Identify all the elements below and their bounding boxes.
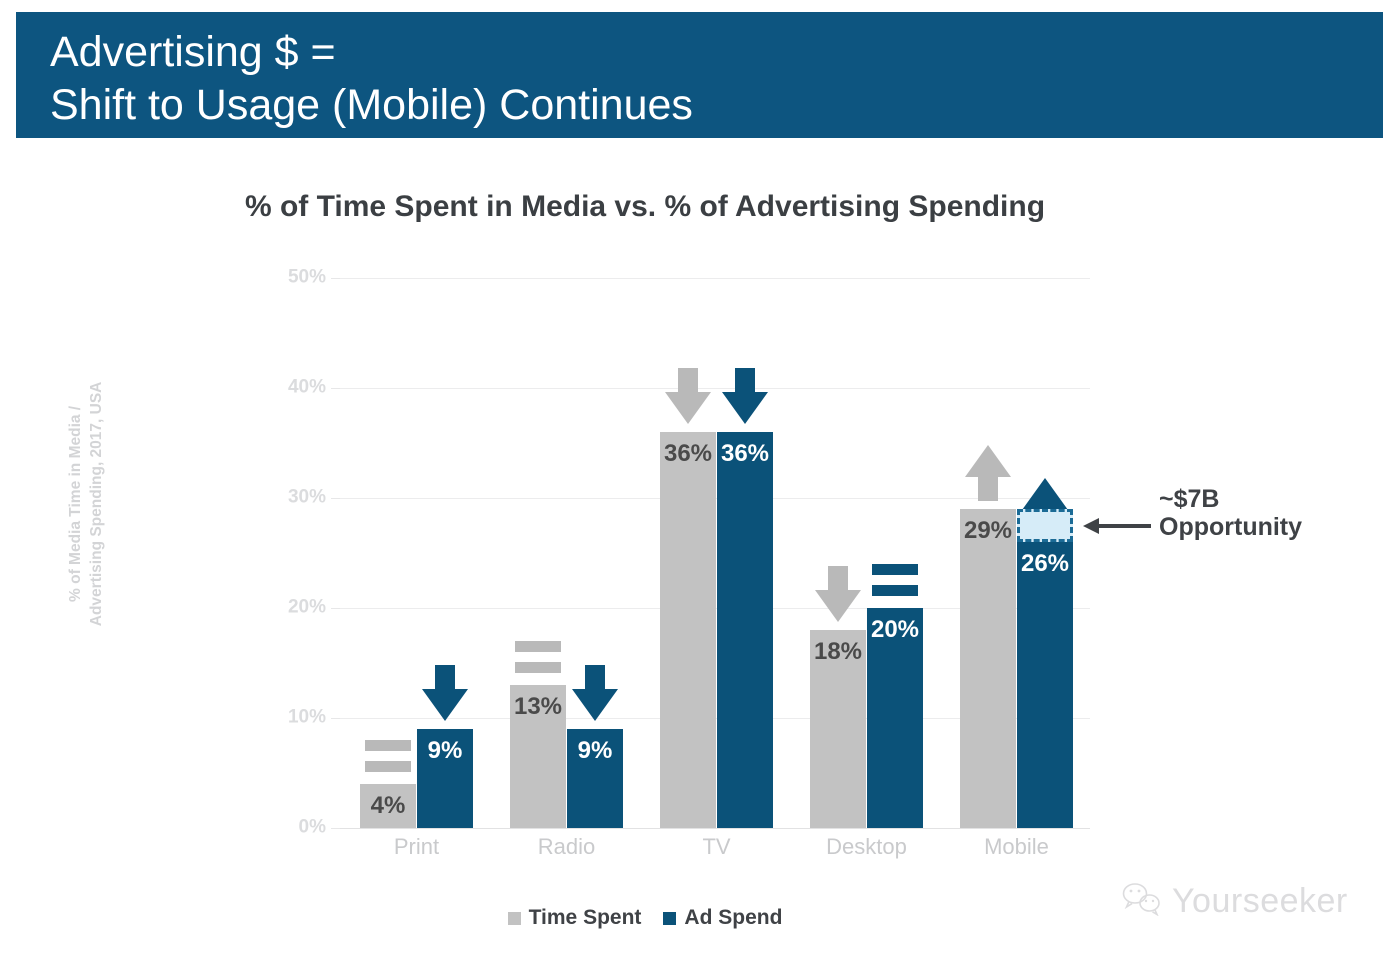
y-tick-mark [331,608,340,609]
arrow-down-icon [572,665,618,721]
bar-mobile-ad-spend[interactable]: 26% [1017,542,1073,828]
trend-indicator-tv-time-spent [665,368,711,424]
y-tick-label: 10% [288,707,326,729]
bar-desktop-ad-spend[interactable]: 20% [867,608,923,828]
bar-group-tv: 36%36%TV [660,278,773,828]
watermark: Yourseeker [1122,882,1348,921]
chart-legend: Time SpentAd Spend [0,906,1290,930]
trend-indicator-print-ad-spend [422,665,468,721]
equals-icon [515,639,561,677]
arrow-down-icon [815,566,861,622]
bar-value-label: 9% [417,737,473,765]
opportunity-amount: ~$7B [1159,485,1302,514]
bar-group-desktop: 18%20%Desktop [810,278,923,828]
bar-group-mobile: 29%26%Mobile [960,278,1073,828]
bar-group-radio: 13%9%Radio [510,278,623,828]
bar-tv-time-spent[interactable]: 36% [660,432,716,828]
arrow-down-icon [722,368,768,424]
legend-swatch [508,912,521,925]
trend-indicator-print-time-spent [365,738,411,776]
bar-mobile-time-spent[interactable]: 29% [960,509,1016,828]
legend-item-ad-spend[interactable]: Ad Spend [663,906,782,930]
wechat-icon [1122,882,1162,921]
y-tick-label: 40% [288,377,326,399]
watermark-text: Yourseeker [1172,882,1348,921]
bar-value-label: 18% [810,638,866,666]
y-tick-label: 20% [288,597,326,619]
bar-group-print: 4%9%Print [360,278,473,828]
y-tick-label: 30% [288,487,326,509]
trend-indicator-tv-ad-spend [722,368,768,424]
arrow-up-icon [965,445,1011,501]
trend-indicator-radio-ad-spend [572,665,618,721]
chart-title: % of Time Spent in Media vs. % of Advert… [0,190,1290,224]
legend-label: Time Spent [529,906,642,930]
arrow-down-icon [422,665,468,721]
arrow-down-icon [665,368,711,424]
bar-value-label: 36% [717,440,773,468]
bar-radio-time-spent[interactable]: 13% [510,685,566,828]
bar-desktop-time-spent[interactable]: 18% [810,630,866,828]
y-tick-label: 50% [288,267,326,289]
header-banner: Advertising $ = Shift to Usage (Mobile) … [16,12,1383,138]
bar-value-label: 26% [1017,550,1073,578]
x-axis-label-print: Print [360,834,473,860]
bar-value-label: 20% [867,616,923,644]
bar-value-label: 29% [960,517,1016,545]
trend-indicator-radio-time-spent [515,639,561,677]
equals-icon [872,562,918,600]
legend-label: Ad Spend [684,906,782,930]
y-tick-mark [331,498,340,499]
bar-value-label: 9% [567,737,623,765]
bar-tv-ad-spend[interactable]: 36% [717,432,773,828]
opportunity-annotation: ~$7BOpportunity [1159,485,1302,543]
y-tick-label: 0% [299,817,326,839]
axis-baseline [340,828,1090,829]
y-tick-mark [331,388,340,389]
bar-print-time-spent[interactable]: 4% [360,784,416,828]
page-title: Advertising $ = Shift to Usage (Mobile) … [50,26,1383,133]
legend-item-time-spent[interactable]: Time Spent [508,906,642,930]
chart-container: % of Time Spent in Media vs. % of Advert… [0,138,1399,960]
y-tick-mark [331,828,340,829]
opportunity-box [1017,509,1073,542]
trend-indicator-desktop-ad-spend [872,562,918,600]
x-axis-label-desktop: Desktop [810,834,923,860]
bar-value-label: 36% [660,440,716,468]
annotation-pointer-icon [1081,515,1153,537]
x-axis-label-tv: TV [660,834,773,860]
plot-area: 0%10%20%30%40%50%4%9%Print13%9%Radio36%3… [340,278,1090,828]
trend-indicator-mobile-time-spent [965,445,1011,501]
opportunity-caption: Opportunity [1159,513,1302,542]
trend-indicator-desktop-time-spent [815,566,861,622]
bar-print-ad-spend[interactable]: 9% [417,729,473,828]
y-tick-mark [331,278,340,279]
equals-icon [365,738,411,776]
y-tick-mark [331,718,340,719]
x-axis-label-mobile: Mobile [960,834,1073,860]
bar-value-label: 13% [510,693,566,721]
legend-swatch [663,912,676,925]
y-axis-title: % of Media Time in Media / Advertising S… [66,339,108,669]
bar-radio-ad-spend[interactable]: 9% [567,729,623,828]
bar-value-label: 4% [360,792,416,820]
x-axis-label-radio: Radio [510,834,623,860]
